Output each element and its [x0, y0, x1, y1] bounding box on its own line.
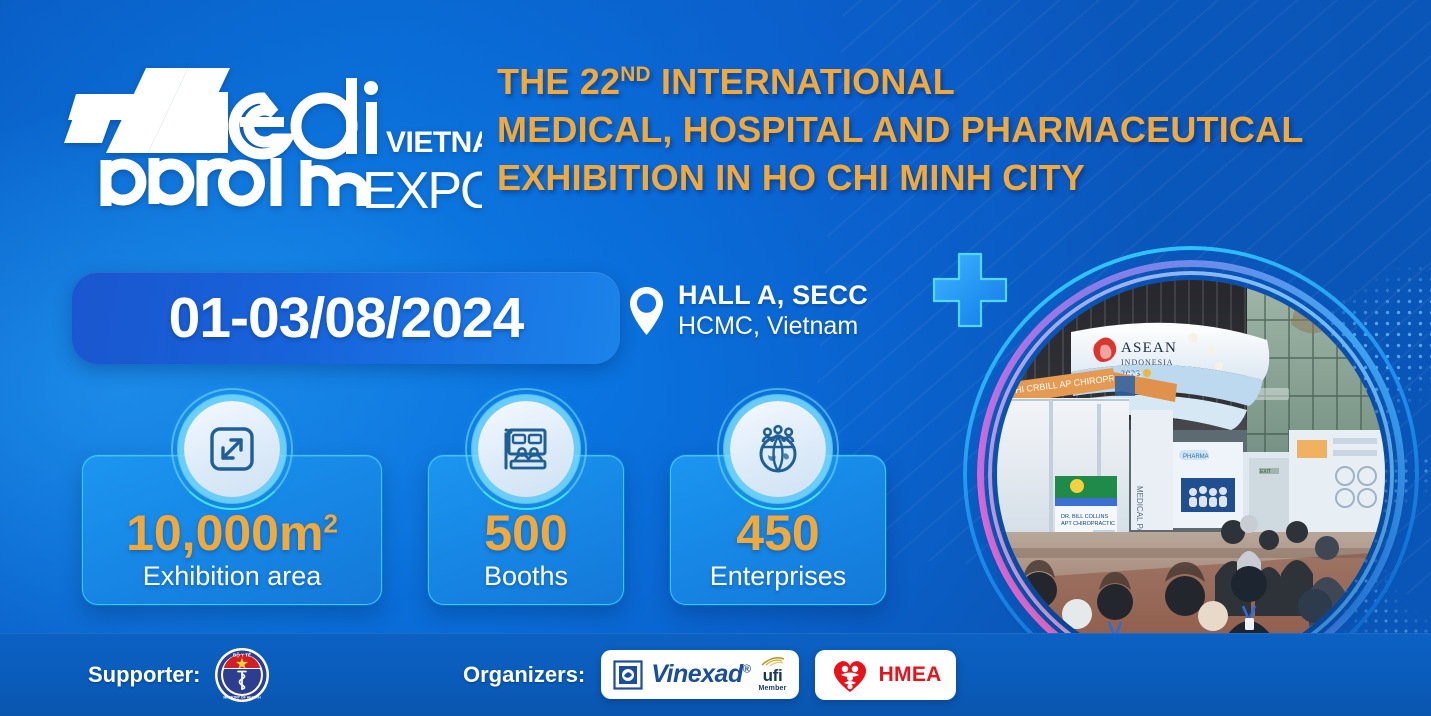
banner-footer: Supporter: BỘ Y TẾ MINISTRY OF HEALTH O [0, 633, 1431, 716]
stat-icon-badge [478, 401, 574, 497]
people-globe-icon [752, 423, 804, 475]
svg-text:EXPO: EXPO [362, 162, 482, 208]
svg-text:ASEAN: ASEAN [1121, 340, 1177, 356]
svg-text:PHARMA: PHARMA [1183, 454, 1209, 460]
logo-mark-icon: VIETNAM EXPO [62, 58, 482, 208]
headline-line-1-post: INTERNATIONAL [651, 61, 955, 102]
svg-text:APT CHIROPRACTIC: APT CHIROPRACTIC [1061, 521, 1115, 527]
svg-text:INDONESIA: INDONESIA [1121, 358, 1174, 367]
stat-card-enterprises[interactable]: 450 Enterprises [670, 455, 886, 605]
area-resize-icon [207, 424, 257, 474]
stat-label: Enterprises [710, 562, 847, 592]
event-photo: ASEAN INDONESIA 2023 NHI CRBILL AP CHIRO… [975, 258, 1407, 690]
location-pin-icon [628, 286, 665, 336]
stat-card-exhibition-area[interactable]: 10,000m2 Exhibition area [82, 455, 382, 605]
headline-ordinal-suffix: ND [620, 63, 651, 86]
stat-value: 500 [484, 508, 567, 558]
exhibition-hall-photo: ASEAN INDONESIA 2023 NHI CRBILL AP CHIRO… [997, 280, 1385, 668]
venue-city: HCMC, Vietnam [678, 312, 868, 342]
hmea-logo[interactable]: HMEA [815, 650, 956, 700]
exhibition-booth-icon [500, 424, 552, 474]
stat-value: 450 [736, 508, 819, 558]
svg-text:DR. BILL COLLINS: DR. BILL COLLINS [1061, 514, 1109, 520]
stat-value: 10,000m2 [126, 508, 338, 558]
vinexad-logo[interactable]: Vinexad® ufi Member [601, 650, 798, 699]
vinexad-text: Vinexad [651, 660, 742, 688]
stat-value-text: 450 [736, 505, 819, 561]
event-venue: HALL A, SECC HCMC, Vietnam [628, 280, 868, 341]
svg-text:EXIT: EXIT [1260, 469, 1271, 475]
expo-banner: VIETNAM EXPO THE 22ND INTERNATIONAL MED [0, 0, 1431, 716]
headline-line-1: THE 22ND INTERNATIONAL [497, 58, 1417, 106]
medipharm-expo-logo[interactable]: VIETNAM EXPO [62, 58, 482, 208]
supporter-label: Supporter: [88, 662, 200, 688]
headline-line-3: EXHIBITION IN HO CHI MINH CITY [497, 154, 1417, 202]
stat-icon-badge [184, 401, 280, 497]
event-headline: THE 22ND INTERNATIONAL MEDICAL, HOSPITAL… [497, 58, 1417, 202]
hmea-heart-icon [829, 656, 871, 694]
ufi-sublabel: Member [759, 685, 787, 692]
supporter-group: Supporter: BỘ Y TẾ MINISTRY OF HEALTH [88, 647, 270, 703]
stat-card-booths[interactable]: 500 Booths [428, 455, 624, 605]
photo-clip: ASEAN INDONESIA 2023 NHI CRBILL AP CHIRO… [997, 280, 1385, 668]
vinexad-registered-mark: ® [743, 664, 751, 676]
event-date-pill: 01-03/08/2024 [72, 272, 620, 364]
stat-label: Booths [484, 562, 568, 592]
svg-text:VIETNAM: VIETNAM [386, 126, 482, 159]
vinexad-wordmark: Vinexad® [651, 660, 750, 689]
seal-top-text: BỘ Y TẾ [233, 650, 251, 657]
event-dates: 01-03/08/2024 [169, 285, 524, 351]
stat-label: Exhibition area [143, 562, 322, 592]
stat-icon-badge [730, 401, 826, 497]
organizers-group: Organizers: Vinexad® ufi Member [463, 650, 956, 700]
stat-value-superscript: 2 [323, 509, 337, 539]
venue-name: HALL A, SECC [678, 280, 868, 312]
stat-value-text: 10,000m [126, 505, 323, 561]
hmea-wordmark: HMEA [879, 663, 942, 687]
stat-value-text: 500 [484, 505, 567, 561]
ufi-label: ufi [763, 667, 783, 684]
vinexad-mark-icon [613, 660, 643, 690]
seal-bottom-text: MINISTRY OF HEALTH [224, 695, 262, 699]
ministry-of-health-seal[interactable]: BỘ Y TẾ MINISTRY OF HEALTH [214, 647, 270, 703]
stats-row: 10,000m2 Exhibition area 500 Booths [82, 455, 886, 605]
headline-line-2: MEDICAL, HOSPITAL AND PHARMACEUTICAL [497, 106, 1417, 154]
ufi-member-badge: ufi Member [759, 657, 787, 692]
headline-line-1-pre: THE 22 [497, 61, 620, 102]
organizers-label: Organizers: [463, 662, 585, 688]
